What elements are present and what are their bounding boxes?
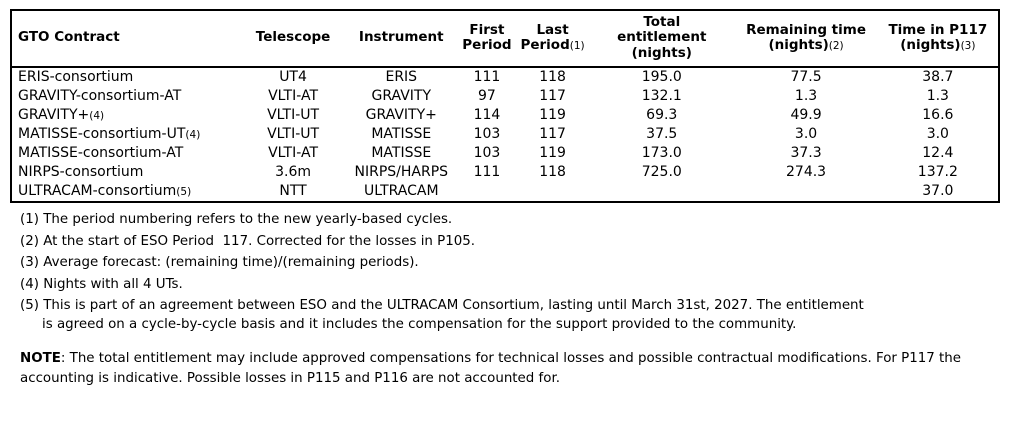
cell-telescope: UT4 [241, 67, 344, 87]
col-header-last-period-line1: Last [536, 22, 568, 38]
cell-last-period: 118 [516, 67, 589, 87]
cell-first-period: 103 [458, 125, 516, 144]
cell-last-period: 117 [516, 125, 589, 144]
cell-remaining-time: 37.3 [734, 144, 877, 163]
cell-instrument: NIRPS/HARPS [345, 163, 458, 182]
cell-last-period: 118 [516, 163, 589, 182]
cell-last-period: 119 [516, 144, 589, 163]
footnote-item-5: (5) This is part of an agreement between… [20, 296, 1014, 334]
cell-contract: GRAVITY-consortium-AT [11, 87, 241, 106]
cell-telescope: 3.6m [241, 163, 344, 182]
cell-first-period: 111 [458, 67, 516, 87]
col-header-first-period-line1: First [469, 22, 504, 38]
cell-contract-footnote: (5) [176, 186, 191, 198]
footnote-text: Nights with all 4 UTs. [43, 277, 183, 292]
cell-total-entitlement: 173.0 [589, 144, 734, 163]
cell-instrument: MATISSE [345, 144, 458, 163]
col-header-total-line2: entitlement [617, 29, 706, 45]
cell-time-in-p117: 3.0 [878, 125, 999, 144]
col-header-instrument: Instrument [345, 10, 458, 67]
cell-contract-text: GRAVITY+ [18, 107, 89, 123]
col-header-first-period-line2: Period [462, 37, 511, 53]
cell-contract-text: MATISSE-consortium-UT [18, 126, 185, 142]
footnote-marker: (4) [20, 277, 39, 292]
note-text: : The total entitlement may include appr… [20, 351, 961, 386]
footnote-text-line2: is agreed on a cycle-by-cycle basis and … [20, 315, 1014, 334]
table-body: ERIS-consortium UT4 ERIS 111 118 195.0 7… [11, 67, 999, 202]
cell-time-in-p117: 37.0 [878, 182, 999, 202]
footnote-marker: (2) [20, 234, 39, 249]
table-row: NIRPS-consortium 3.6m NIRPS/HARPS 111 11… [11, 163, 999, 182]
cell-remaining-time: 1.3 [734, 87, 877, 106]
cell-remaining-time [734, 182, 877, 202]
cell-total-entitlement: 132.1 [589, 87, 734, 106]
col-header-last-period-line2: Period [520, 37, 569, 53]
col-header-instrument-label: Instrument [359, 29, 444, 45]
cell-last-period: 117 [516, 87, 589, 106]
table-row: GRAVITY+(4) VLTI-UT GRAVITY+ 114 119 69.… [11, 106, 999, 125]
cell-contract-text: MATISSE-consortium-AT [18, 145, 183, 161]
cell-first-period: 111 [458, 163, 516, 182]
note-label: NOTE [20, 351, 61, 366]
cell-instrument: MATISSE [345, 125, 458, 144]
footnotes-block: (1) The period numbering refers to the n… [10, 209, 1014, 334]
cell-time-in-p117: 1.3 [878, 87, 999, 106]
cell-instrument: ERIS [345, 67, 458, 87]
col-header-p117-line1: Time in P117 [888, 22, 987, 38]
footnote-marker: (3) [20, 255, 39, 270]
col-header-contract: GTO Contract [11, 10, 241, 67]
col-header-remaining-time: Remaining time (nights)(2) [734, 10, 877, 67]
footnote-text: Average forecast: (remaining time)/(rema… [43, 255, 418, 270]
cell-total-entitlement: 195.0 [589, 67, 734, 87]
col-header-last-period-footnote: (1) [570, 40, 585, 52]
cell-contract: ULTRACAM-consortium(5) [11, 182, 241, 202]
cell-first-period [458, 182, 516, 202]
table-row: MATISSE-consortium-UT(4) VLTI-UT MATISSE… [11, 125, 999, 144]
cell-contract: MATISSE-consortium-AT [11, 144, 241, 163]
footnote-marker: (5) [20, 298, 39, 313]
cell-first-period: 114 [458, 106, 516, 125]
cell-total-entitlement: 725.0 [589, 163, 734, 182]
col-header-remaining-line2: (nights) [768, 37, 828, 53]
document-sheet: GTO Contract Telescope Instrument First … [0, 0, 1024, 432]
col-header-last-period: Last Period(1) [516, 10, 589, 67]
cell-contract: MATISSE-consortium-UT(4) [11, 125, 241, 144]
col-header-telescope-label: Telescope [256, 29, 331, 45]
cell-contract-footnote: (4) [89, 110, 104, 122]
cell-telescope: VLTI-UT [241, 106, 344, 125]
cell-contract-footnote: (4) [185, 129, 200, 141]
cell-first-period: 97 [458, 87, 516, 106]
table-row: MATISSE-consortium-AT VLTI-AT MATISSE 10… [11, 144, 999, 163]
table-row: GRAVITY-consortium-AT VLTI-AT GRAVITY 97… [11, 87, 999, 106]
cell-telescope: VLTI-AT [241, 144, 344, 163]
cell-contract: NIRPS-consortium [11, 163, 241, 182]
table-header-row: GTO Contract Telescope Instrument First … [11, 10, 999, 67]
cell-time-in-p117: 137.2 [878, 163, 999, 182]
cell-last-period: 119 [516, 106, 589, 125]
cell-telescope: VLTI-AT [241, 87, 344, 106]
cell-remaining-time: 77.5 [734, 67, 877, 87]
cell-time-in-p117: 12.4 [878, 144, 999, 163]
col-header-remaining-footnote: (2) [829, 40, 844, 52]
cell-instrument: GRAVITY+ [345, 106, 458, 125]
col-header-total-line3: (nights) [632, 45, 692, 61]
footnote-text: The period numbering refers to the new y… [43, 212, 452, 227]
footnote-marker: (1) [20, 212, 39, 227]
cell-telescope: VLTI-UT [241, 125, 344, 144]
footnote-item: (4) Nights with all 4 UTs. [20, 274, 1014, 296]
col-header-remaining-line1: Remaining time [746, 22, 866, 38]
cell-total-entitlement: 37.5 [589, 125, 734, 144]
footnote-item: (1) The period numbering refers to the n… [20, 209, 1014, 231]
col-header-total-line1: Total [643, 14, 680, 30]
col-header-total-entitlement: Total entitlement (nights) [589, 10, 734, 67]
col-header-telescope: Telescope [241, 10, 344, 67]
note-block: NOTE: The total entitlement may include … [10, 349, 1014, 389]
table-row: ULTRACAM-consortium(5) NTT ULTRACAM 37.0 [11, 182, 999, 202]
cell-total-entitlement: 69.3 [589, 106, 734, 125]
cell-remaining-time: 49.9 [734, 106, 877, 125]
col-header-p117-line2: (nights) [900, 37, 960, 53]
gto-contract-table: GTO Contract Telescope Instrument First … [10, 9, 1000, 203]
cell-instrument: GRAVITY [345, 87, 458, 106]
footnote-text: At the start of ESO Period 117. Correcte… [43, 234, 475, 249]
table-header: GTO Contract Telescope Instrument First … [11, 10, 999, 67]
cell-contract-text: ERIS-consortium [18, 69, 133, 85]
col-header-first-period: First Period [458, 10, 516, 67]
cell-telescope: NTT [241, 182, 344, 202]
cell-time-in-p117: 16.6 [878, 106, 999, 125]
cell-contract: GRAVITY+(4) [11, 106, 241, 125]
cell-contract-text: ULTRACAM-consortium [18, 183, 176, 199]
footnote-item: (3) Average forecast: (remaining time)/(… [20, 252, 1014, 274]
cell-contract: ERIS-consortium [11, 67, 241, 87]
cell-total-entitlement [589, 182, 734, 202]
footnote-text-line1: This is part of an agreement between ESO… [43, 298, 864, 313]
col-header-time-in-p117: Time in P117 (nights)(3) [878, 10, 999, 67]
cell-last-period [516, 182, 589, 202]
cell-contract-text: GRAVITY-consortium-AT [18, 88, 181, 104]
col-header-contract-label: GTO Contract [18, 29, 120, 45]
footnote-item: (2) At the start of ESO Period 117. Corr… [20, 231, 1014, 253]
cell-time-in-p117: 38.7 [878, 67, 999, 87]
cell-instrument: ULTRACAM [345, 182, 458, 202]
cell-contract-text: NIRPS-consortium [18, 164, 143, 180]
cell-remaining-time: 274.3 [734, 163, 877, 182]
table-row: ERIS-consortium UT4 ERIS 111 118 195.0 7… [11, 67, 999, 87]
cell-first-period: 103 [458, 144, 516, 163]
col-header-p117-footnote: (3) [961, 40, 976, 52]
cell-remaining-time: 3.0 [734, 125, 877, 144]
